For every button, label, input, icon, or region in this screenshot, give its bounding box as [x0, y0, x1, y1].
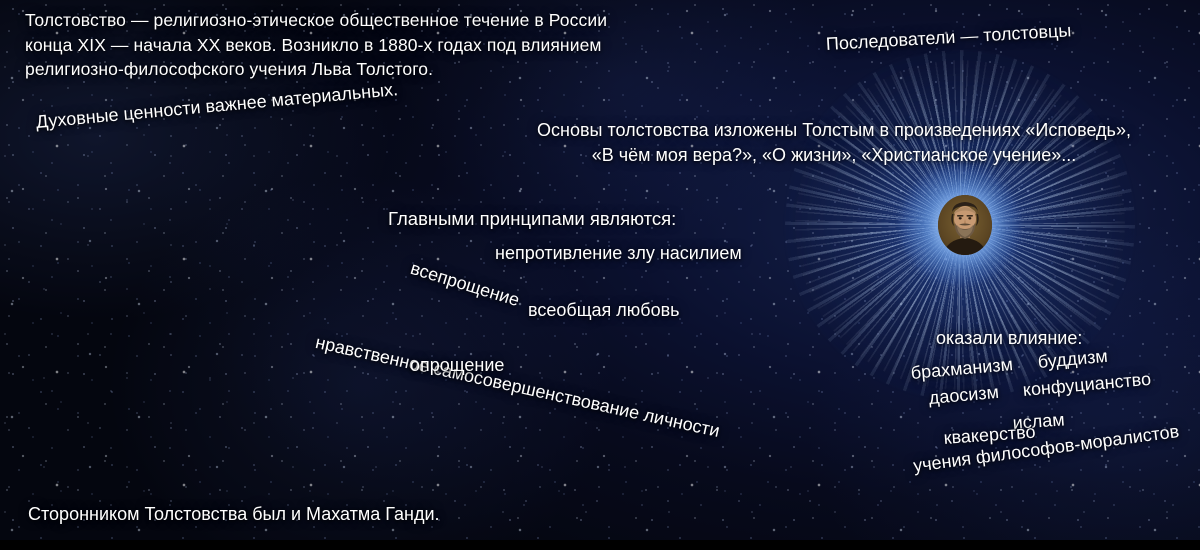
portrait-illustration	[938, 195, 992, 255]
intro-line-2: конца XIX — начала XX веков. Возникло в …	[25, 33, 607, 58]
gandhi-label: Сторонником Толстовства был и Махатма Га…	[28, 504, 440, 525]
bottom-letterbox-band	[0, 540, 1200, 550]
principle-item-universal-love: всеобщая любовь	[528, 300, 680, 321]
intro-line-1: Толстовство — религиозно-этическое общес…	[25, 8, 607, 33]
influences-heading: оказали влияние:	[936, 328, 1082, 349]
intro-line-3: религиозно-философского учения Льва Толс…	[25, 57, 607, 82]
foundations-line-2: «В чём моя вера?», «О жизни», «Христианс…	[478, 143, 1190, 168]
portrait-lev-tolstoy	[938, 195, 992, 255]
foundations-line-1: Основы толстовства изложены Толстым в пр…	[478, 118, 1190, 143]
intro-paragraph: Толстовство — религиозно-этическое общес…	[25, 8, 607, 82]
principles-heading: Главными принципами являются:	[388, 208, 676, 230]
foundations-paragraph: Основы толстовства изложены Толстым в пр…	[478, 118, 1190, 168]
slide-canvas: Толстовство — религиозно-этическое общес…	[0, 0, 1200, 550]
principle-item-simplification: опрощение	[410, 355, 504, 376]
principle-item-nonresistance: непротивление злу насилием	[495, 243, 742, 264]
